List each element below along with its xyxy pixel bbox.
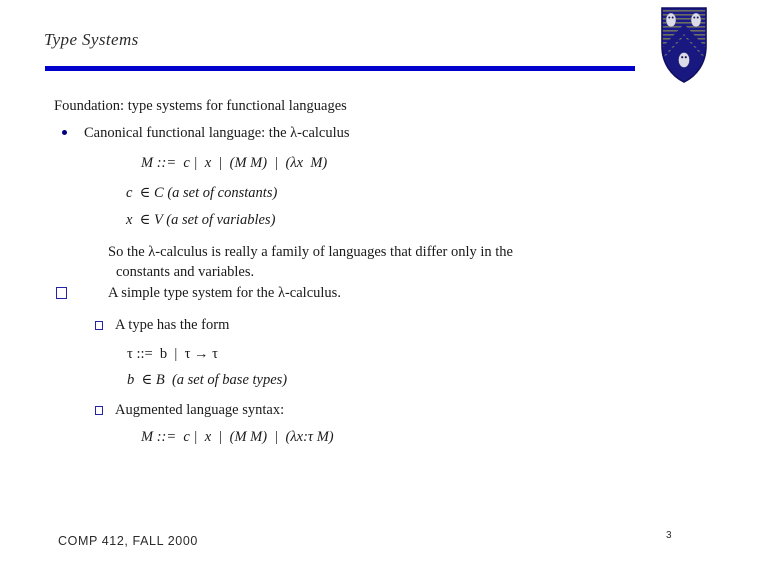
body-heading: Foundation: type systems for functional … (54, 97, 347, 116)
constant-set-line: c ∈ C (a set of constants) (126, 184, 277, 203)
variable-set-line: x ∈ V (a set of variables) (126, 211, 275, 230)
slide-canvas: Type Systems (0, 0, 768, 576)
bullet-type-has-form: A type has the form (115, 316, 229, 335)
bullet-dot-icon (62, 130, 67, 135)
lambda-family-paragraph: So the λ-calculus is really a family of … (108, 242, 616, 282)
lambda-family-line1: So the λ-calculus is really a family of … (108, 244, 513, 260)
lambda-family-line2: constants and variables. (108, 262, 616, 282)
page-number: 3 (666, 530, 672, 541)
bullet-square-small-icon (95, 321, 103, 330)
grammar-term-m: M ::= c | x | (M M) | (λx M) (141, 154, 327, 173)
slide-body: Foundation: type systems for functional … (0, 0, 768, 520)
bullet-simple-type-system: A simple type system for the λ-calculus. (108, 284, 341, 303)
base-type-set-line: b ∈ B (a set of base types) (127, 371, 287, 390)
bullet-square-large-icon (56, 287, 67, 299)
bullet-square-small-icon (95, 406, 103, 415)
bullet-augmented-syntax: Augmented language syntax: (115, 401, 284, 420)
bullet-canonical-language: Canonical functional language: the λ-cal… (84, 124, 350, 143)
grammar-term-m-typed: M ::= c | x | (M M) | (λx:τ M) (141, 428, 334, 447)
footer-course-label: COMP 412, FALL 2000 (58, 534, 198, 548)
grammar-type-tau: τ ::= b | τ → τ (127, 345, 218, 364)
